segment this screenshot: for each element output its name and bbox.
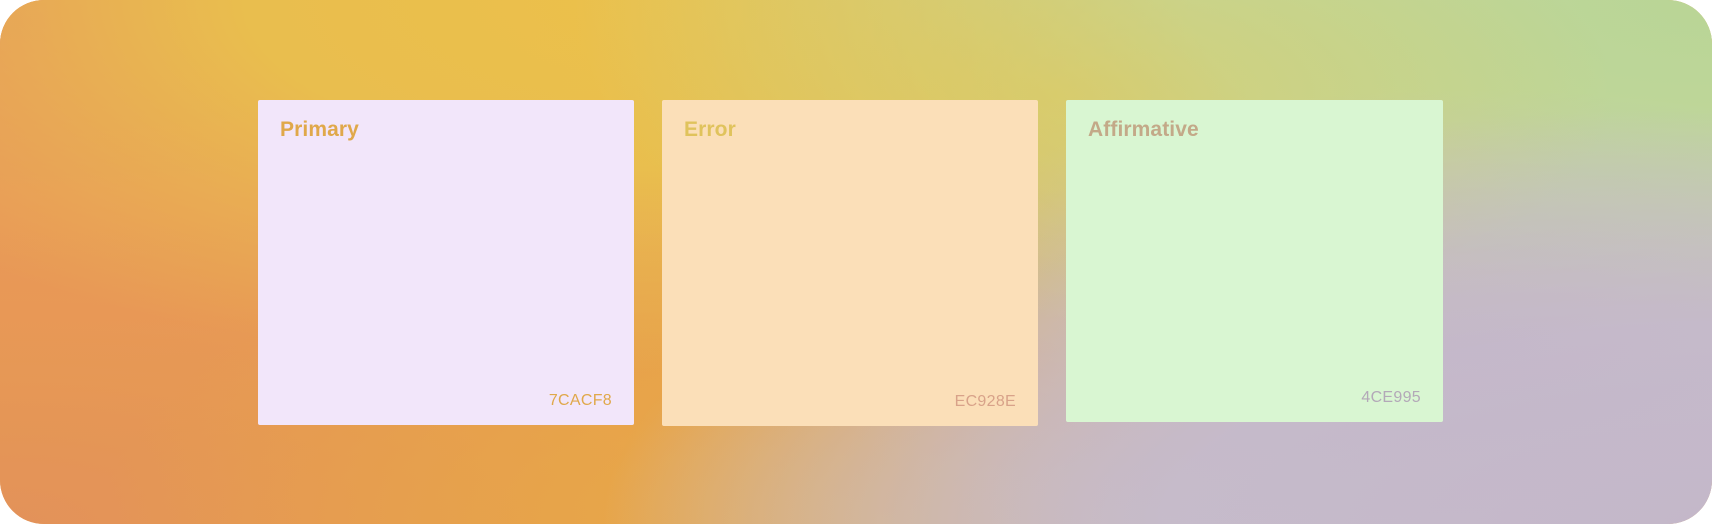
color-swatch-error[interactable]: Error EC928E: [662, 100, 1038, 426]
color-swatch-affirmative[interactable]: Affirmative 4CE995: [1066, 100, 1443, 422]
swatch-title-error: Error: [684, 119, 1016, 140]
swatch-title-primary: Primary: [280, 119, 612, 140]
gradient-canvas: Primary 7CACF8 Error EC928E Affirmative …: [0, 0, 1712, 524]
swatch-hex-affirmative: 4CE995: [1088, 390, 1421, 406]
color-swatch-row: Primary 7CACF8 Error EC928E Affirmative …: [258, 100, 1443, 426]
swatch-title-affirmative: Affirmative: [1088, 119, 1421, 140]
swatch-hex-error: EC928E: [684, 394, 1016, 410]
swatch-hex-primary: 7CACF8: [280, 393, 612, 409]
color-swatch-primary[interactable]: Primary 7CACF8: [258, 100, 634, 425]
